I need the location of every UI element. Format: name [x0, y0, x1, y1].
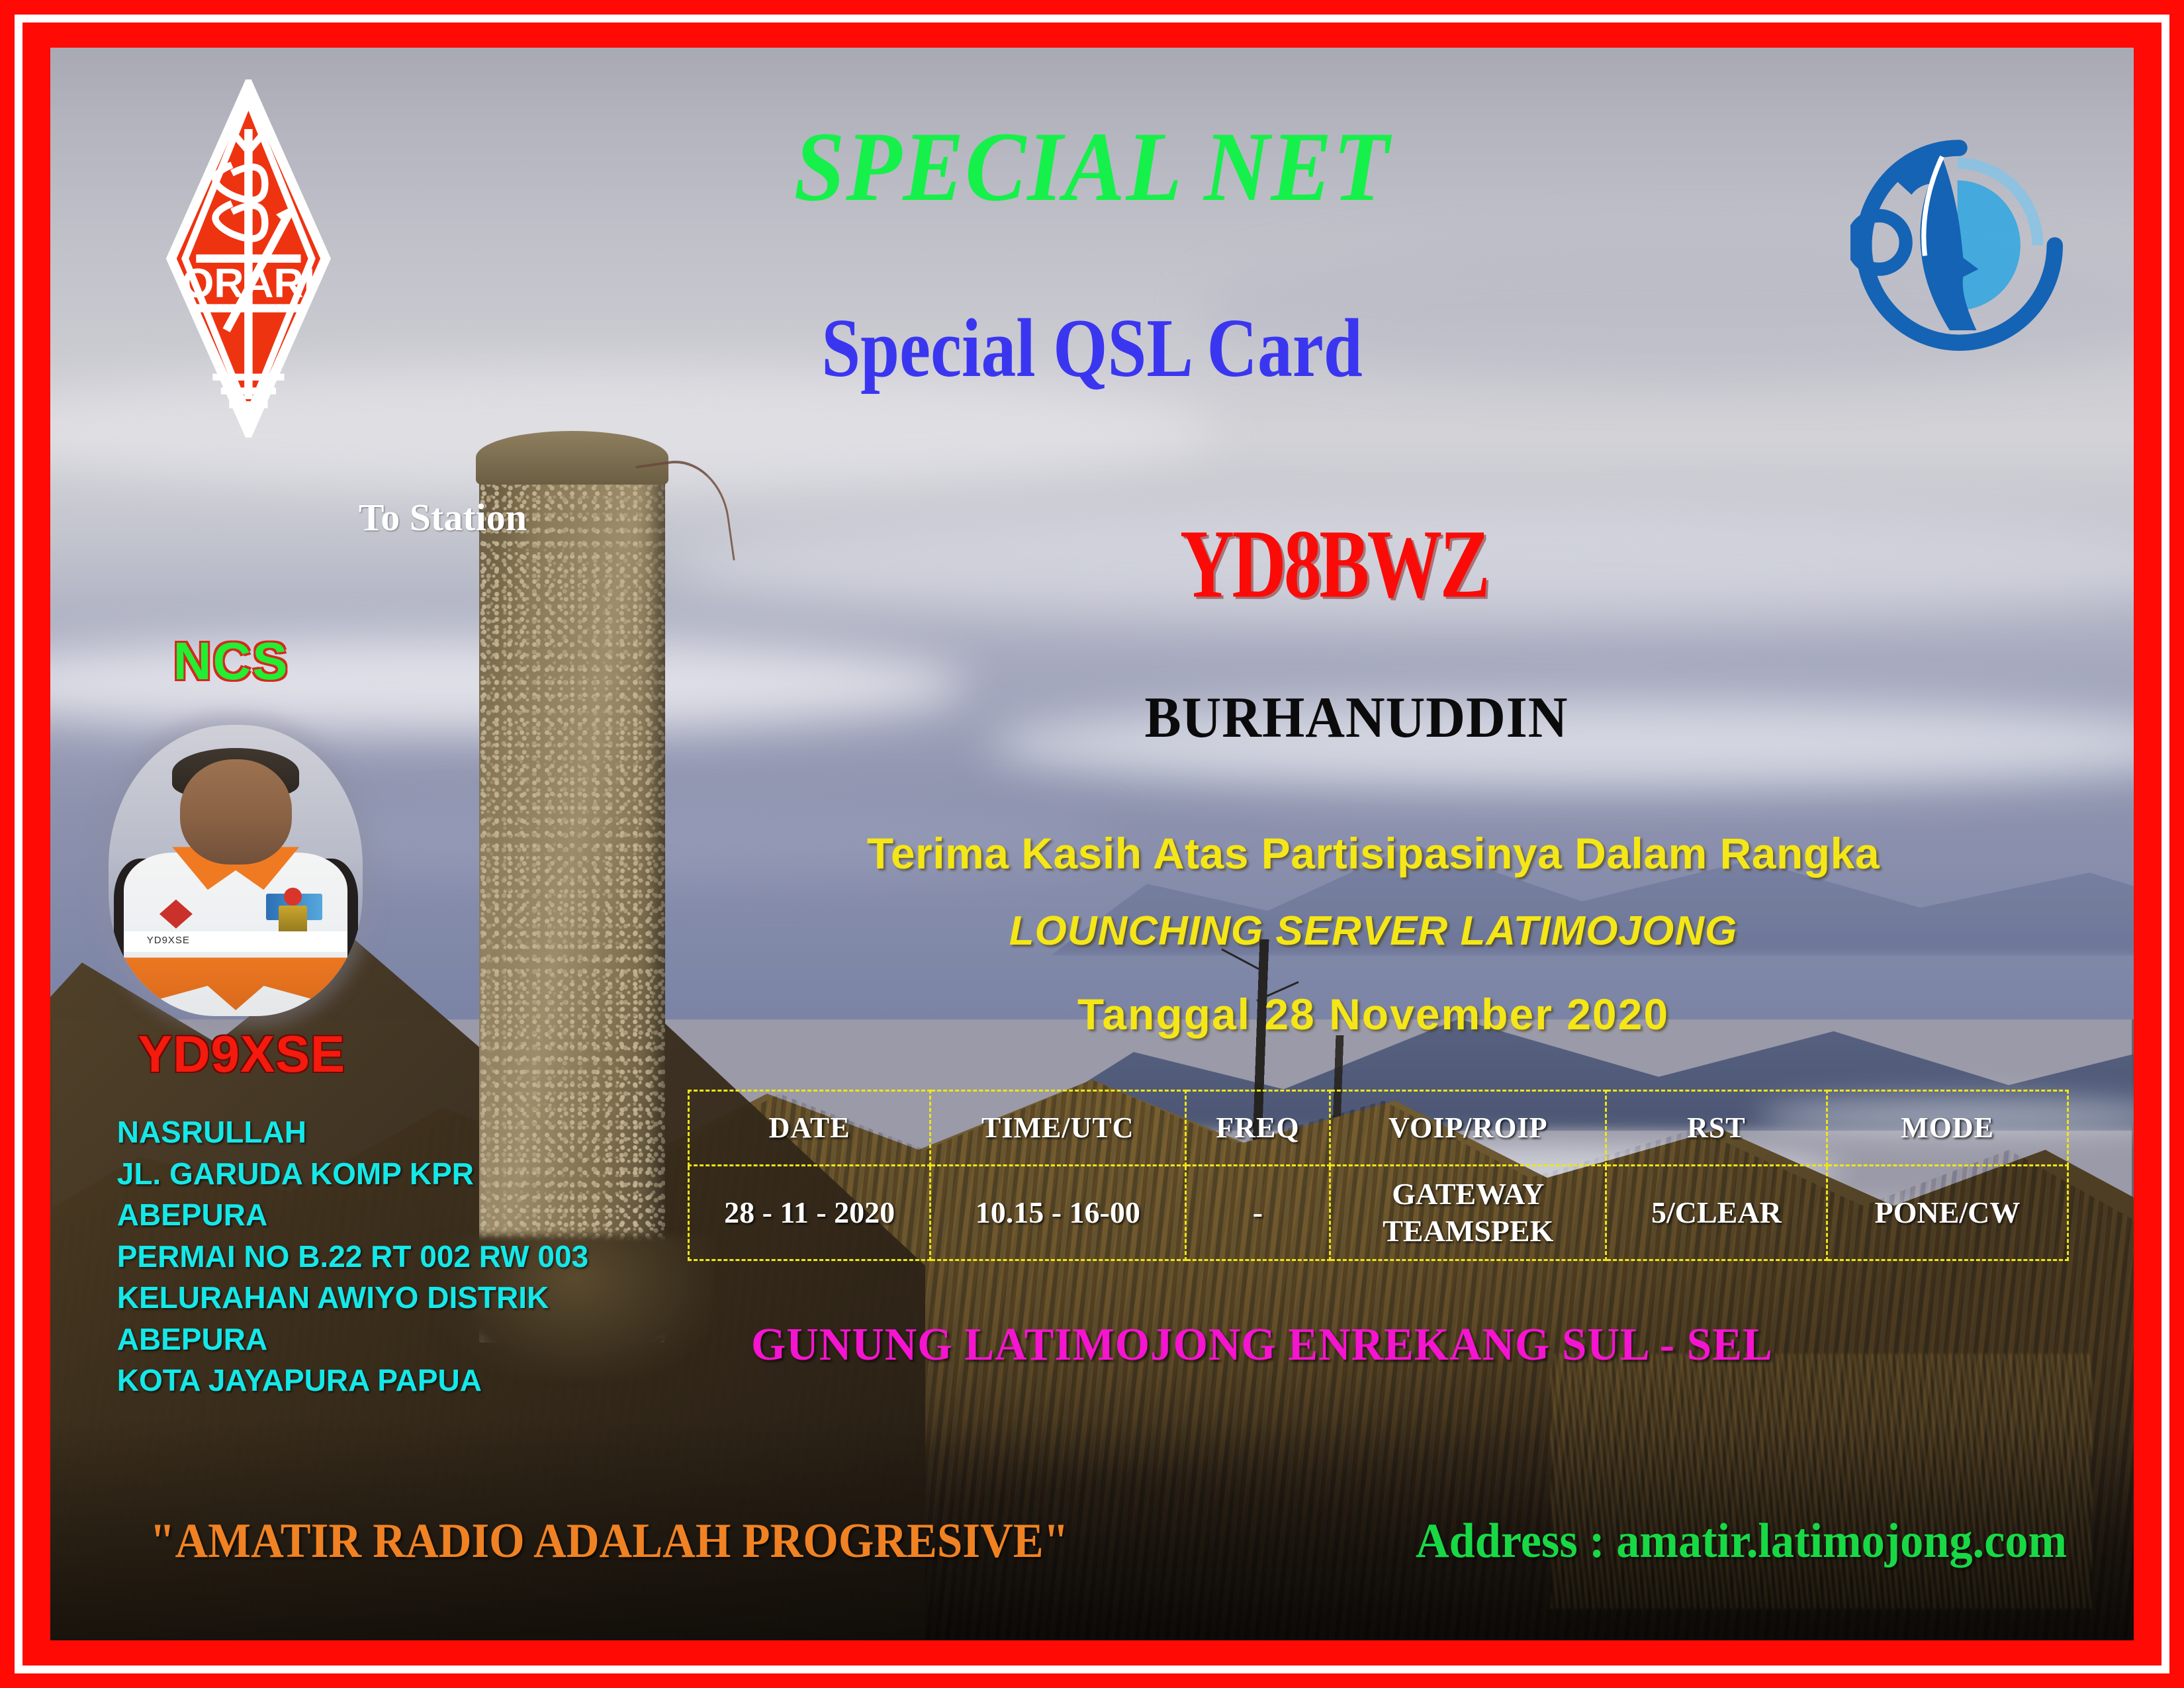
cell-voip-line2: TEAMSPEK	[1334, 1213, 1602, 1250]
address-line: JL. GARUDA KOMP KPR	[117, 1153, 588, 1195]
header-voip-roip: VOIP/ROIP	[1330, 1090, 1606, 1165]
qso-log-table: DATE TIME/UTC FREQ VOIP/ROIP RST MODE 28…	[688, 1090, 2069, 1262]
qsl-card-inner-frame: ORARI SPE	[23, 23, 2161, 1665]
location-line: GUNUNG LATIMOJONG ENREKANG SUL - SEL	[92, 1319, 2092, 1372]
table-row: 28 - 11 - 2020 10.15 - 16-00 - GATEWAY T…	[689, 1165, 2068, 1260]
cell-rst: 5/CLEAR	[1606, 1165, 1827, 1260]
address-line: NASRULLAH	[117, 1111, 588, 1153]
station-callsign: YD8BWZ	[196, 506, 1987, 620]
address-line: ABEPURA	[117, 1194, 588, 1236]
header-mode: MODE	[1827, 1090, 2068, 1165]
thanks-line: Terima Kasih Atas Partisipasinya Dalam R…	[50, 828, 2134, 878]
page-title-special-net: SPECIAL NET	[134, 110, 2050, 224]
slogan-text: "AMATIR RADIO ADALAH PROGRESIVE"	[150, 1513, 1069, 1570]
card-content-layer: ORARI SPE	[50, 48, 2134, 1640]
cell-mode: PONE/CW	[1827, 1165, 2068, 1260]
cell-voip-line1: GATEWAY	[1334, 1176, 1602, 1213]
table-header-row: DATE TIME/UTC FREQ VOIP/ROIP RST MODE	[689, 1090, 2068, 1165]
event-date-line: Tanggal 28 November 2020	[50, 989, 2134, 1039]
qsl-card-frame-gap: ORARI SPE	[15, 15, 2169, 1673]
cell-time: 10.15 - 16-00	[931, 1165, 1186, 1260]
event-line: LOUNCHING SERVER LATIMOJONG	[50, 908, 2134, 955]
cell-freq: -	[1185, 1165, 1330, 1260]
web-address-text: Address : amatir.latimojong.com	[1415, 1513, 2066, 1570]
address-line: PERMAI NO B.22 RT 002 RW 003	[117, 1236, 588, 1278]
header-rst: RST	[1606, 1090, 1827, 1165]
header-time-utc: TIME/UTC	[931, 1090, 1186, 1165]
qsl-card-photo-background: ORARI SPE	[50, 48, 2134, 1640]
page-subtitle-special-qsl-card: Special QSL Card	[217, 301, 1967, 397]
operator-name: BURHANUDDIN	[113, 684, 2071, 751]
badge-clip	[284, 888, 302, 905]
header-freq: FREQ	[1185, 1090, 1330, 1165]
address-line: KELURAHAN AWIYO DISTRIK	[117, 1277, 588, 1319]
cell-voip-roip: GATEWAY TEAMSPEK	[1330, 1165, 1606, 1260]
cell-date: 28 - 11 - 2020	[689, 1165, 931, 1260]
ncs-label: NCS	[173, 631, 289, 692]
orari-logo-text: ORARI	[181, 260, 314, 306]
header-date: DATE	[689, 1090, 931, 1165]
qsl-card-outer-frame: ORARI SPE	[0, 0, 2184, 1688]
